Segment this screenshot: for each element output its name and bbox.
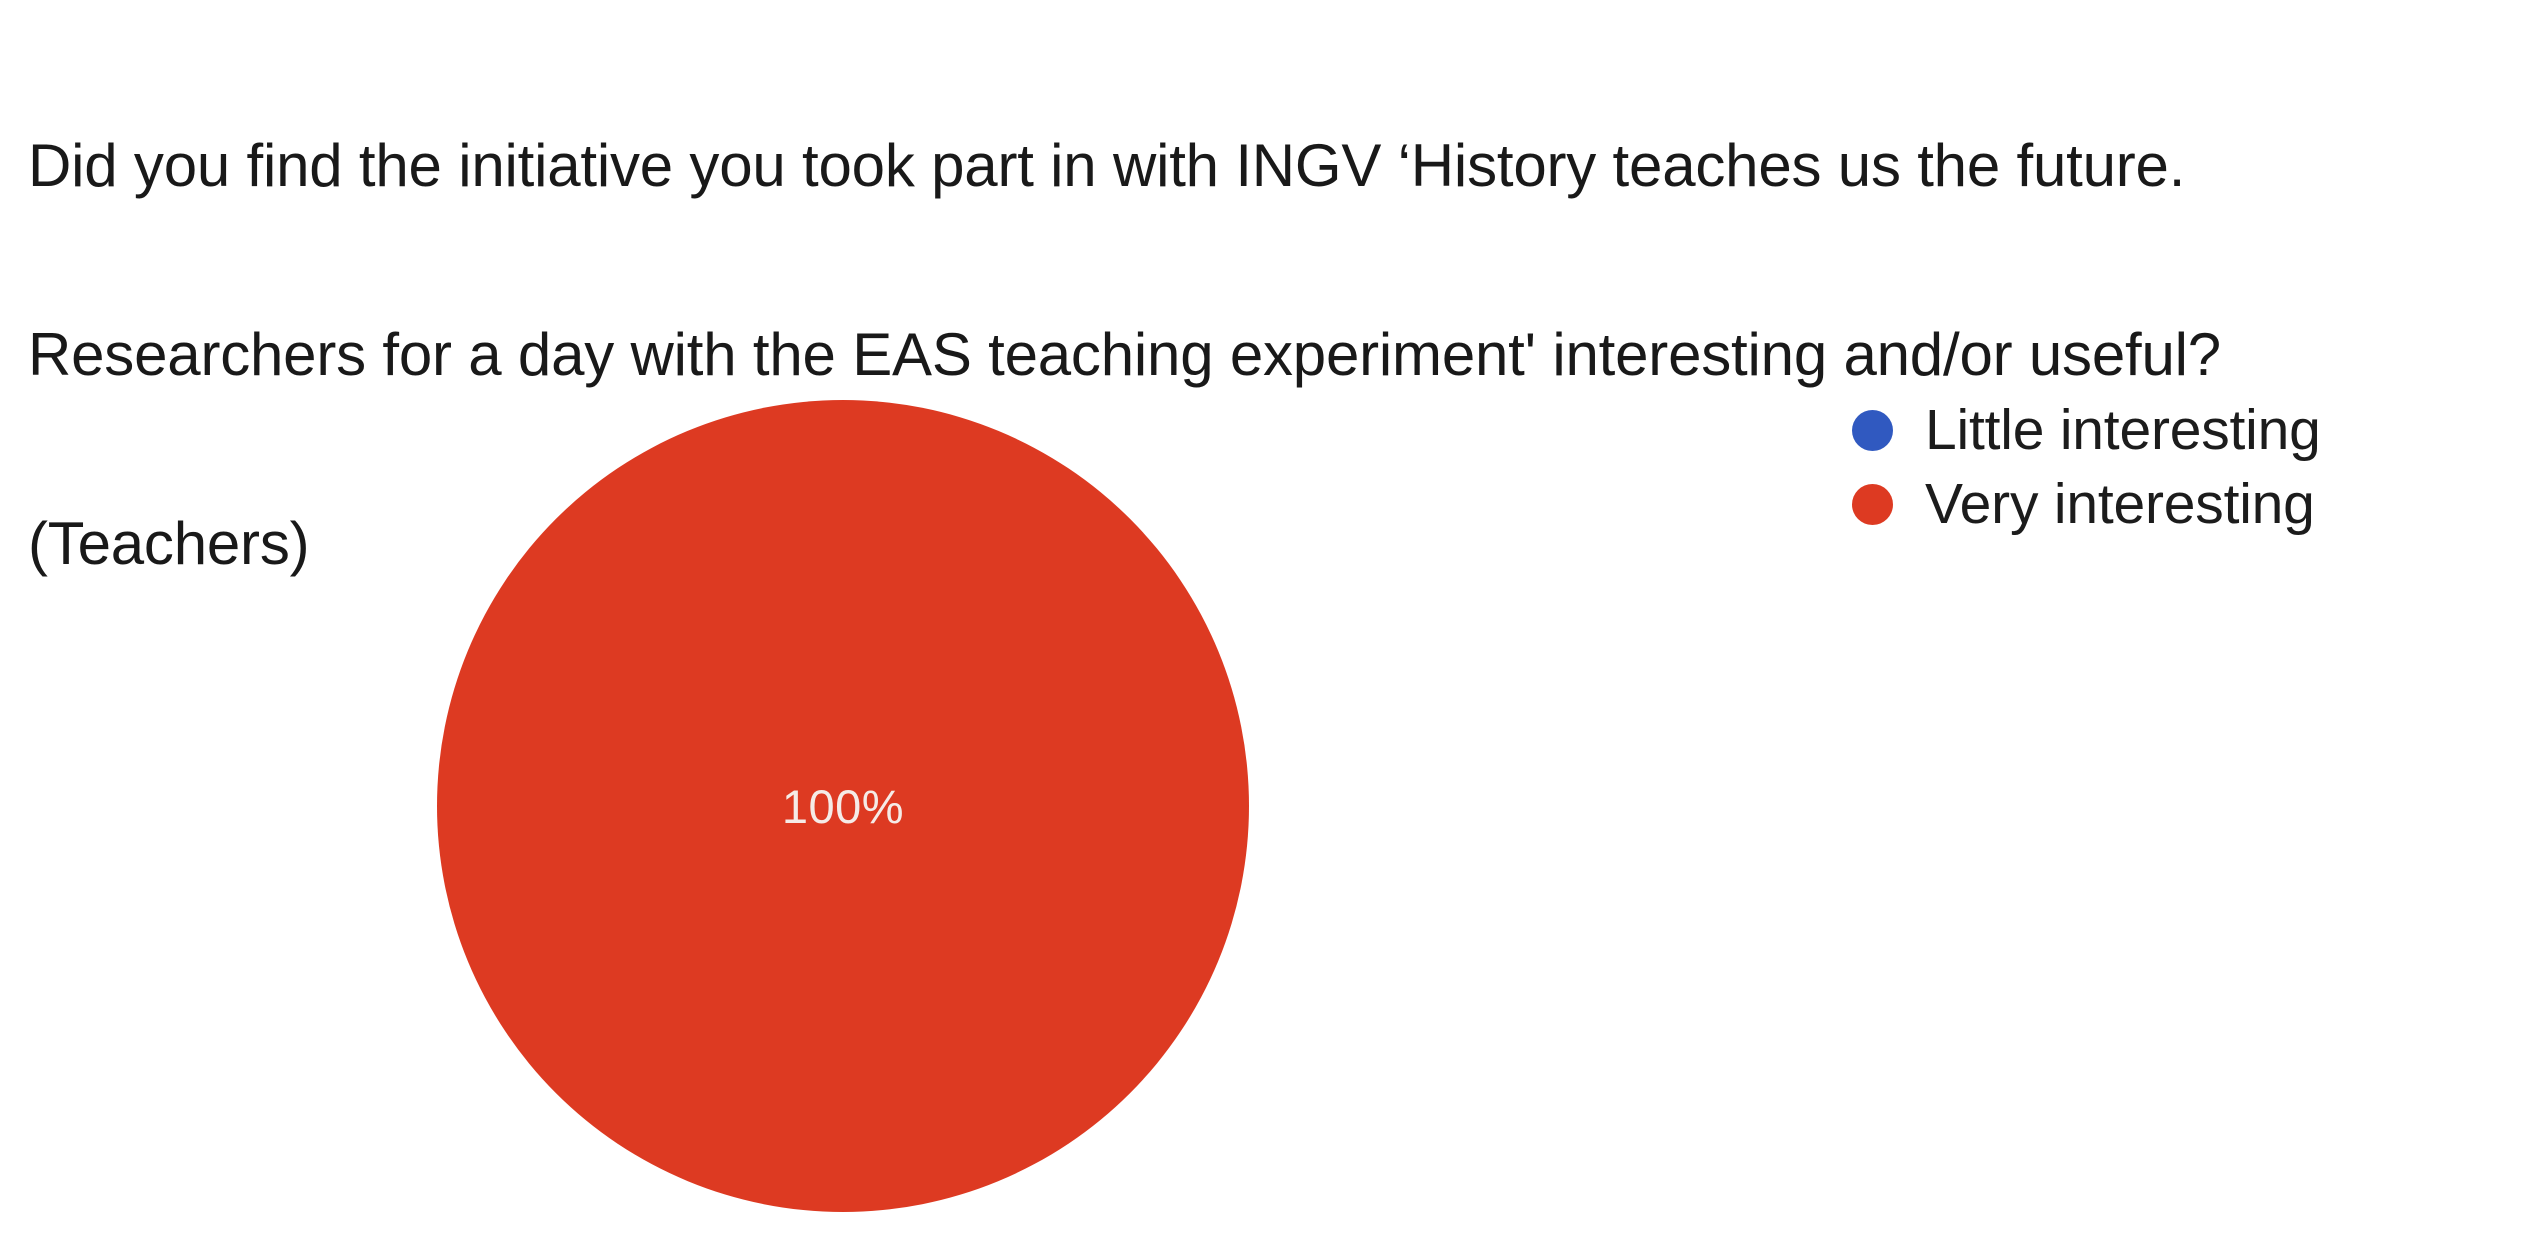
chart-canvas: Did you find the initiative you took par… <box>0 0 2527 1257</box>
legend-item-label: Little interesting <box>1925 400 2321 460</box>
pie-slice-very-interesting[interactable] <box>437 400 1249 1212</box>
legend-item-little-interesting[interactable]: Little interesting <box>1852 393 2512 467</box>
legend-dot-icon <box>1852 410 1893 451</box>
plot-area: 100% <box>0 330 1700 1257</box>
legend-dot-icon <box>1852 484 1893 525</box>
chart-title-line-1: Did you find the initiative you took par… <box>28 134 2508 197</box>
legend-item-label: Very interesting <box>1925 474 2315 534</box>
pie-chart[interactable]: 100% <box>437 400 1249 1212</box>
chart-legend: Little interesting Very interesting <box>1852 393 2512 541</box>
legend-item-very-interesting[interactable]: Very interesting <box>1852 467 2512 541</box>
